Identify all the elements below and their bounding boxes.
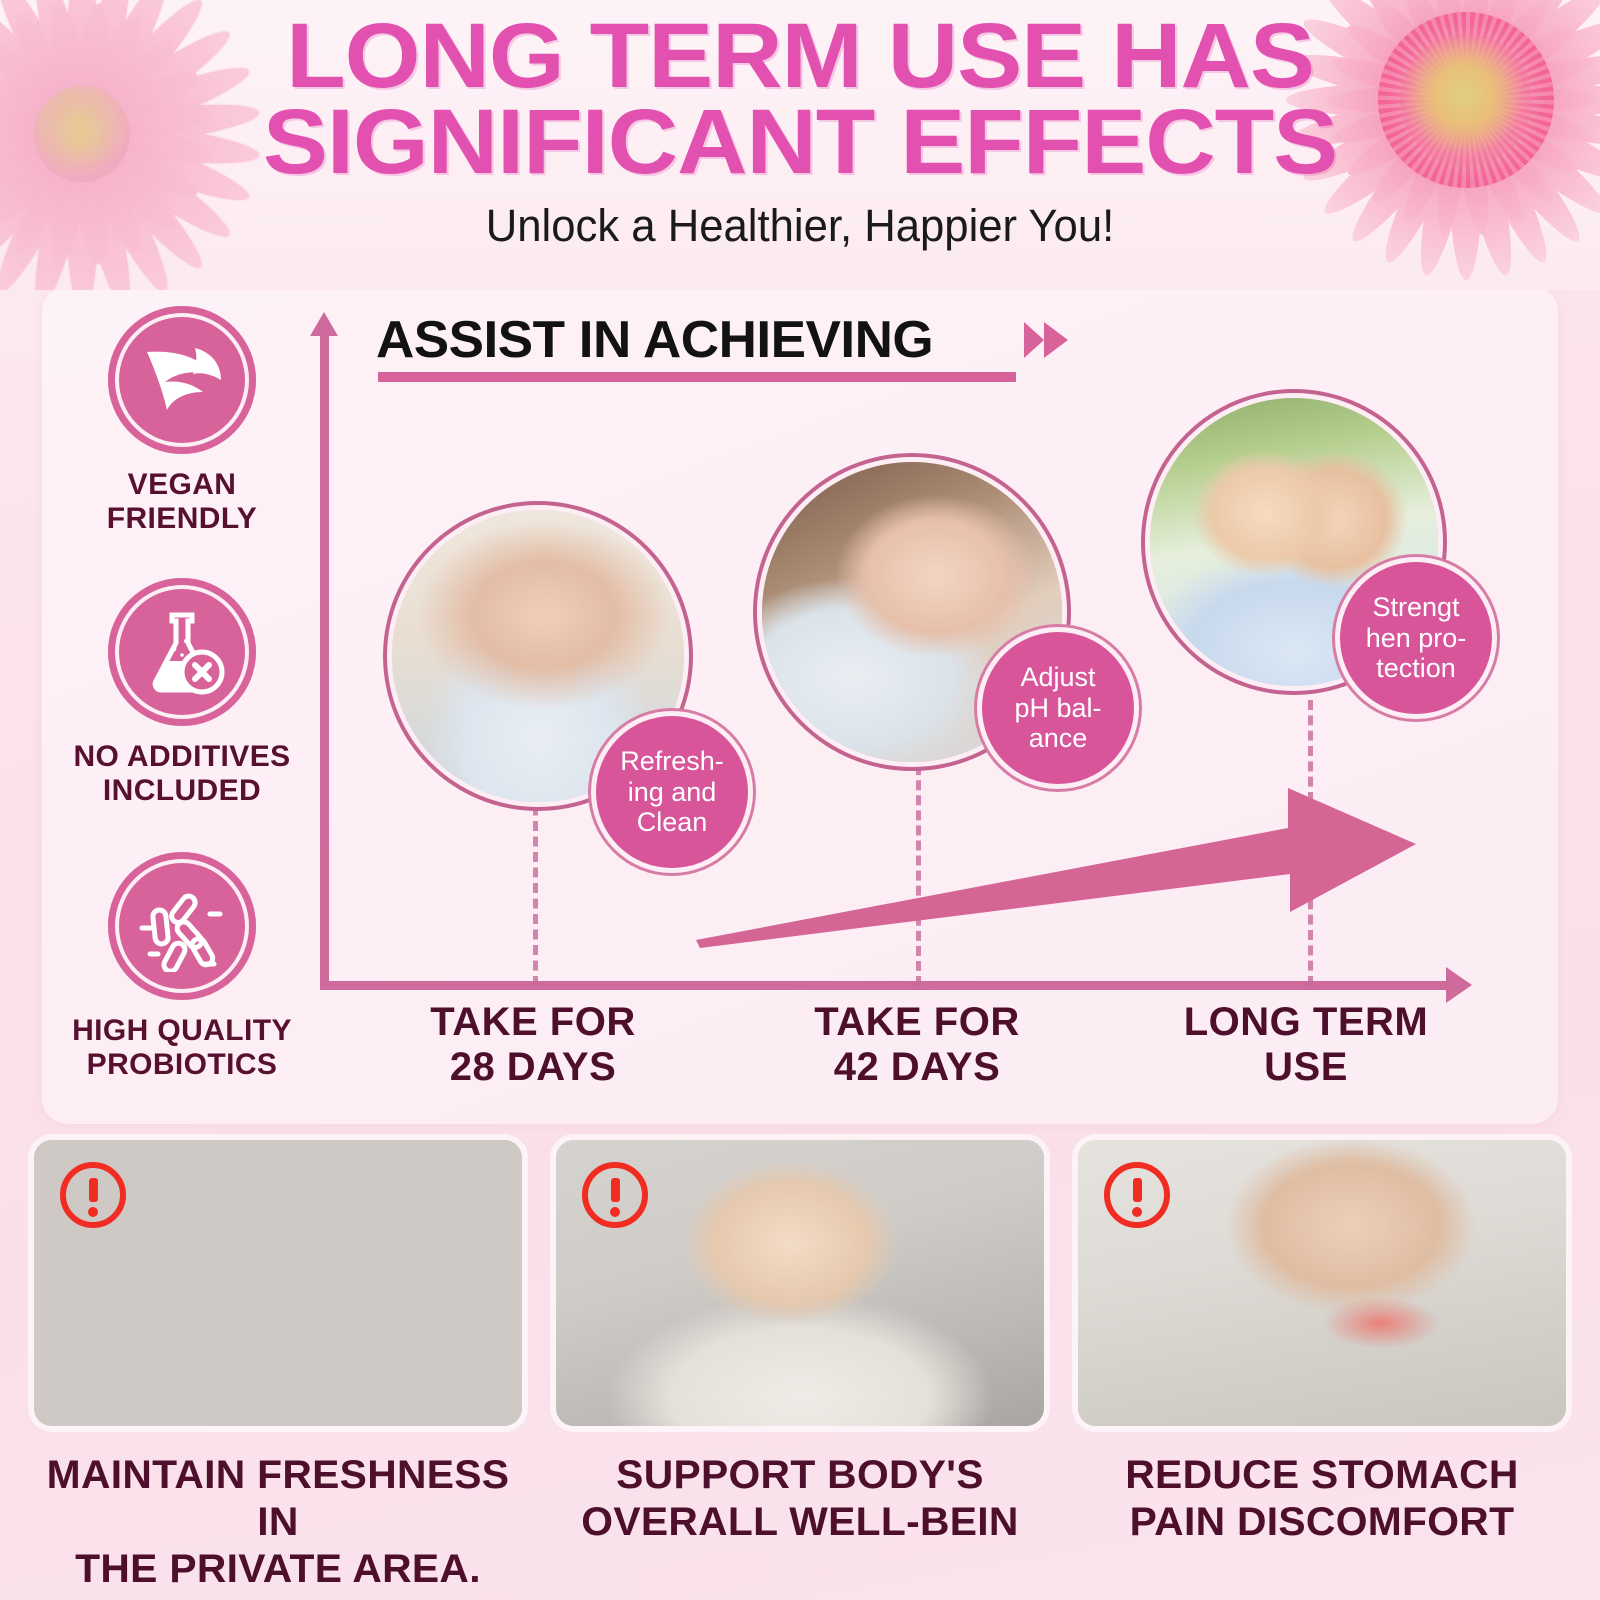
feature-label: HIGH QUALITYPROBIOTICS [48,1014,316,1081]
chart-x-label-1: TAKE FOR28 DAYS [363,1000,703,1090]
milestone-tag-text: AdjustpH bal-ance [1008,662,1107,754]
milestone-tag-2: AdjustpH bal-ance [982,632,1134,784]
title-line-2: SIGNIFICANT EFFECTS [0,96,1600,188]
growth-trend-arrow [690,770,1430,960]
chart-x-axis-arrowhead [1446,967,1472,1003]
infographic-root: LONG TERM USE HAS SIGNIFICANT EFFECTS Un… [0,0,1600,1600]
chart-y-axis [320,330,329,990]
chart-x-label-3: LONG TERMUSE [1136,1000,1476,1090]
leaf-icon [108,306,256,454]
feature-vegan-friendly[interactable]: VEGANFRIENDLY [48,306,316,535]
chart-gridline-1 [533,790,538,986]
feature-badge-list: VEGANFRIENDLY NO ADDITIVESINCLUDED [48,300,316,1100]
benefit-card-stomach-pain[interactable]: REDUCE STOMACHPAIN DISCOMFORT [1078,1140,1566,1546]
feature-high-quality-probiotics[interactable]: HIGH QUALITYPROBIOTICS [48,852,316,1081]
card-image [1078,1140,1566,1426]
chart-heading: ASSIST IN ACHIEVING [376,310,1090,370]
milestone-tag-1: Refresh-ing andClean [596,716,748,868]
chart-y-axis-arrowhead [310,312,338,336]
feature-label: NO ADDITIVESINCLUDED [48,740,316,807]
card-image [34,1140,522,1426]
chart-heading-underline [378,372,1016,382]
card-caption: REDUCE STOMACHPAIN DISCOMFORT [1073,1452,1571,1546]
page-title: LONG TERM USE HAS SIGNIFICANT EFFECTS [0,10,1600,188]
warning-exclamation-icon [582,1162,648,1228]
benefit-card-freshness[interactable]: MAINTAIN FRESHNESS INTHE PRIVATE AREA. [34,1140,522,1594]
card-caption: SUPPORT BODY'SOVERALL WELL-BEIN [551,1452,1049,1546]
probiotics-bacteria-icon [108,852,256,1000]
milestone-tag-text: Strengthen pro-tection [1360,592,1473,684]
milestone-tag-3: Strengthen pro-tection [1340,562,1492,714]
double-chevron-right-icon [1022,318,1072,362]
header-banner: LONG TERM USE HAS SIGNIFICANT EFFECTS Un… [0,0,1600,290]
card-image [556,1140,1044,1426]
card-caption: MAINTAIN FRESHNESS INTHE PRIVATE AREA. [29,1452,527,1594]
chart-x-label-2: TAKE FOR42 DAYS [747,1000,1087,1090]
feature-no-additives[interactable]: NO ADDITIVESINCLUDED [48,578,316,807]
chart-heading-group: ASSIST IN ACHIEVING [376,310,1076,390]
warning-exclamation-icon [60,1162,126,1228]
benefit-card-list: MAINTAIN FRESHNESS INTHE PRIVATE AREA. S… [0,1140,1600,1600]
feature-label: VEGANFRIENDLY [48,468,316,535]
page-subtitle: Unlock a Healthier, Happier You! [24,200,1576,252]
benefit-card-wellbeing[interactable]: SUPPORT BODY'SOVERALL WELL-BEIN [556,1140,1044,1546]
chart-x-axis [320,981,1450,990]
warning-exclamation-icon [1104,1162,1170,1228]
flask-no-additives-icon [108,578,256,726]
milestone-tag-text: Refresh-ing andClean [614,746,730,838]
